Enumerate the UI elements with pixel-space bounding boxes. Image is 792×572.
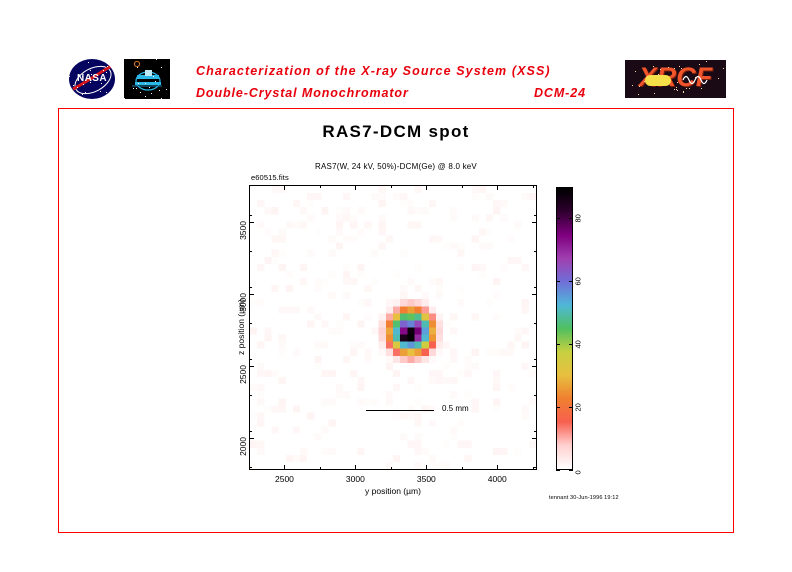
x-tick-top: [497, 185, 498, 190]
colorbar-tick-right: [569, 281, 573, 282]
star-dot: [686, 88, 687, 89]
y-tick-minor-right: [534, 467, 537, 468]
y-tick-major: [249, 438, 254, 439]
colorbar-tick-label: 60: [574, 277, 583, 285]
star-dot: [153, 76, 154, 77]
star-dot: [124, 98, 125, 99]
star-dot: [106, 92, 107, 93]
star-dot: [151, 93, 152, 94]
star-dot: [90, 82, 91, 83]
star-dot: [723, 68, 724, 69]
y-tick-label: 2500: [238, 365, 248, 399]
colorbar-tick: [556, 281, 560, 282]
star-dot: [83, 84, 84, 85]
y-tick-minor-right: [534, 395, 537, 396]
y-tick-right: [532, 294, 537, 295]
star-dot: [91, 74, 92, 75]
star-dot: [658, 74, 659, 75]
colorbar-tick-right: [569, 218, 573, 219]
x-tick-minor: [391, 467, 392, 470]
colorbar-tick-right: [569, 470, 573, 471]
star-dot: [140, 92, 141, 93]
star-dot: [674, 89, 675, 90]
star-dot: [668, 67, 669, 68]
x-tick-top: [426, 185, 427, 190]
star-dot: [699, 64, 700, 65]
y-tick-major: [249, 366, 254, 367]
y-tick-major: [249, 294, 254, 295]
y-tick-right: [532, 366, 537, 367]
colorbar: [556, 187, 573, 470]
y-tick-minor-right: [534, 215, 537, 216]
colorbar-tick: [556, 344, 560, 345]
star-dot: [676, 89, 677, 90]
colorbar-tick-label: 40: [574, 340, 583, 348]
colorbar-tick: [556, 470, 560, 471]
star-dot: [82, 76, 83, 77]
x-tick-label: 3000: [335, 474, 375, 484]
y-tick-minor-right: [534, 323, 537, 324]
star-dot: [82, 94, 83, 95]
star-dot: [88, 62, 89, 63]
star-dot: [90, 70, 91, 71]
colorbar-tick: [556, 407, 560, 408]
y-tick-minor: [249, 215, 252, 216]
star-dot: [660, 69, 661, 70]
x-tick-minor: [320, 467, 321, 470]
source-file-label: e60515.fits: [251, 173, 289, 182]
colorbar-tick-label: 80: [574, 215, 583, 223]
star-dot: [106, 72, 107, 73]
y-tick-minor: [249, 323, 252, 324]
y-tick-minor-right: [534, 359, 537, 360]
star-dot: [149, 87, 150, 88]
star-dot: [681, 68, 682, 69]
y-tick-minor-right: [534, 287, 537, 288]
star-dot: [85, 92, 86, 93]
star-dot: [159, 90, 160, 91]
colorbar-tick: [556, 218, 560, 219]
credit-stamp: tennant 30-Jun-1996 19:12: [549, 495, 619, 501]
star-dot: [136, 88, 137, 89]
star-dot: [701, 88, 702, 89]
xrcf-logo: XRCF: [625, 60, 726, 98]
star-dot: [639, 86, 640, 87]
star-dot: [706, 61, 707, 62]
x-tick-label: 3500: [406, 474, 446, 484]
header-title-line2: Double-Crystal Monochromator: [196, 86, 409, 100]
x-tick-top: [355, 185, 356, 190]
star-dot: [632, 85, 633, 86]
star-dot: [695, 77, 696, 78]
scalebar-label: 0.5 mm: [442, 404, 469, 413]
star-dot: [145, 96, 146, 97]
x-tick-minor-top: [391, 185, 392, 188]
x-tick-top: [284, 185, 285, 190]
x-tick-major: [355, 465, 356, 470]
star-dot: [138, 83, 139, 84]
colorbar-tick-label: 0: [574, 470, 583, 474]
x-tick-minor-top: [320, 185, 321, 188]
x-tick-major: [497, 465, 498, 470]
star-dot: [654, 93, 655, 94]
colorbar-tick-right: [569, 344, 573, 345]
star-dot: [133, 88, 134, 89]
star-dot: [674, 68, 675, 69]
star-dot: [677, 82, 678, 83]
y-tick-minor: [249, 467, 252, 468]
star-dot: [644, 81, 645, 82]
star-dot: [653, 66, 654, 67]
xrcf-logo-wave: [682, 72, 708, 88]
star-dot: [166, 89, 167, 90]
x-tick-label: 4000: [477, 474, 517, 484]
heatmap-plot-area: [249, 185, 537, 470]
x-axis-title: y position (µm): [249, 486, 537, 496]
plot-subtitle: RAS7(W, 24 kV, 50%)-DCM(Ge) @ 8.0 keV: [0, 162, 792, 171]
star-dot: [137, 67, 138, 68]
star-dot: [156, 59, 157, 60]
x-tick-major: [284, 465, 285, 470]
nasa-logo-ball: NASA: [69, 59, 115, 99]
colorbar-tick-label: 20: [574, 403, 583, 411]
star-dot: [101, 83, 102, 84]
star-dot: [647, 76, 648, 77]
star-dot: [676, 87, 677, 88]
xrcf-logo-capsule: [645, 75, 671, 86]
nasa-logo: NASA: [66, 58, 118, 100]
y-tick-minor: [249, 359, 252, 360]
star-dot: [161, 98, 162, 99]
star-dot: [155, 81, 156, 82]
star-dot: [683, 91, 684, 92]
scalebar-line: [366, 410, 434, 411]
star-dot: [658, 75, 659, 76]
star-dot: [113, 90, 114, 91]
star-dot: [689, 88, 690, 89]
star-dot: [161, 67, 162, 68]
star-dot: [638, 94, 639, 95]
page-title: RAS7-DCM spot: [0, 122, 792, 142]
x-tick-label: 2500: [264, 474, 304, 484]
y-tick-right: [532, 438, 537, 439]
header-title-line1: Characterization of the X-ray Source Sys…: [196, 64, 551, 78]
x-tick-minor-top: [533, 185, 534, 188]
satellite-logo-art: [124, 59, 170, 99]
star-dot: [111, 64, 112, 65]
star-dot: [683, 92, 684, 93]
star-dot: [718, 78, 719, 79]
slide-header: NASA Characterization of the X-ray Sourc…: [0, 0, 792, 108]
x-tick-major: [426, 465, 427, 470]
star-dot: [107, 66, 108, 67]
star-dot: [73, 85, 74, 86]
x-tick-minor-top: [462, 185, 463, 188]
y-tick-major: [249, 222, 254, 223]
star-dot: [635, 71, 636, 72]
header-doc-code: DCM-24: [534, 86, 586, 100]
y-tick-minor: [249, 395, 252, 396]
star-dot: [112, 96, 113, 97]
star-dot: [97, 75, 98, 76]
y-tick-right: [532, 222, 537, 223]
y-tick-label: 3500: [238, 221, 248, 255]
heatmap-image: [250, 186, 536, 469]
y-tick-minor: [249, 251, 252, 252]
star-dot: [145, 83, 146, 84]
star-dot: [108, 96, 109, 97]
y-tick-minor-right: [534, 431, 537, 432]
satellite-logo: [124, 59, 170, 99]
y-tick-label: 2000: [238, 437, 248, 471]
y-tick-minor-right: [534, 251, 537, 252]
star-dot: [69, 76, 70, 77]
x-tick-minor: [462, 467, 463, 470]
star-dot: [77, 87, 78, 88]
star-dot: [677, 90, 678, 91]
y-tick-minor: [249, 287, 252, 288]
y-tick-minor: [249, 431, 252, 432]
star-dot: [679, 66, 680, 67]
colorbar-tick-right: [569, 407, 573, 408]
y-axis-title: z position (µm): [236, 299, 246, 355]
star-dot: [103, 70, 104, 71]
star-dot: [100, 91, 101, 92]
